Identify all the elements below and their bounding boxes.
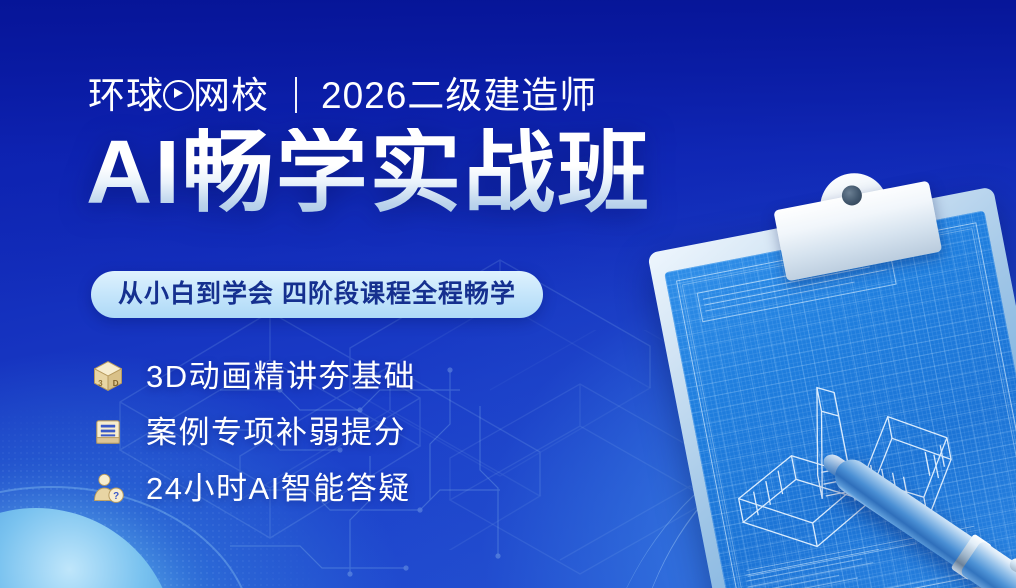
feature-label-3d: 3D动画精讲夯基础 [146, 361, 416, 392]
cube-3d-icon: 3 D [88, 356, 128, 396]
feature-list: 3 D 3D动画精讲夯基础 [88, 348, 416, 516]
brand-name-suffix: 网校 [193, 77, 269, 114]
subtitle-badge: 从小白到学会 四阶段课程全程畅学 [91, 271, 543, 318]
feature-item-ai-support: ? 24小时AI智能答疑 [88, 460, 416, 516]
feature-item-3d: 3 D 3D动画精讲夯基础 [88, 348, 416, 404]
brand-name: 环球 网校 [88, 77, 269, 114]
play-circle-icon [163, 80, 194, 111]
svg-text:D: D [113, 379, 119, 388]
svg-text:?: ? [113, 491, 119, 502]
ai-assistant-person-icon: ? [88, 468, 128, 508]
page-title: AI畅学实战班 [86, 128, 651, 218]
svg-text:3: 3 [98, 379, 103, 388]
feature-item-cases: 案例专项补弱提分 [88, 404, 416, 460]
banner-content: 环球 网校 2026二级建造师 AI畅学实战班 从小白到学会 四阶段课程全程畅学 [0, 0, 1016, 588]
brand-divider [295, 77, 297, 113]
brand-name-prefix: 环球 [88, 77, 164, 114]
exam-name: 2026二级建造师 [321, 77, 597, 114]
promo-banner: 环球 网校 2026二级建造师 AI畅学实战班 从小白到学会 四阶段课程全程畅学 [0, 0, 1016, 588]
brand-header: 环球 网校 2026二级建造师 [88, 71, 597, 119]
feature-label-ai-support: 24小时AI智能答疑 [146, 473, 411, 504]
book-icon [88, 412, 128, 452]
feature-label-cases: 案例专项补弱提分 [146, 417, 406, 448]
subtitle-text: 从小白到学会 四阶段课程全程畅学 [118, 282, 516, 307]
